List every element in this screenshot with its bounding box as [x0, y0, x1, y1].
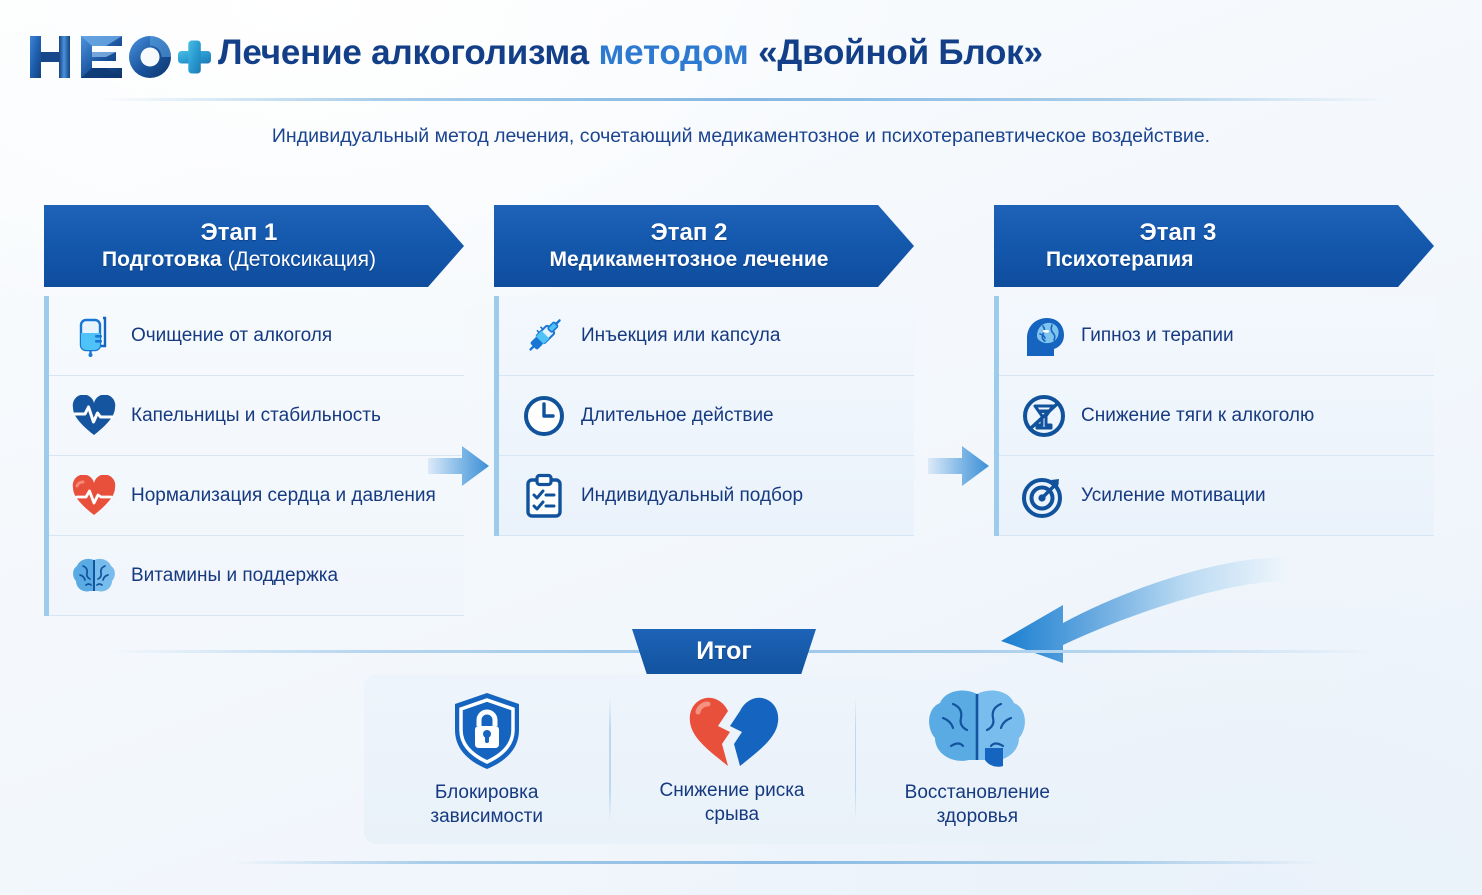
logo-letter-n — [30, 36, 70, 78]
arrow-right-icon — [428, 443, 490, 489]
shield-lock-icon — [447, 690, 527, 772]
list-item-label: Снижение тяги к алкоголю — [1081, 405, 1314, 427]
list-item[interactable]: Длительное действие — [499, 376, 914, 456]
logo-letter-o — [129, 36, 171, 78]
page-subtitle: Индивидуальный метод лечения, сочетающий… — [0, 125, 1482, 148]
list-item[interactable]: Инъекция или капсула — [499, 296, 914, 376]
list-item[interactable]: Очищение от алкоголя — [49, 296, 464, 376]
heart-pulse-red-icon — [67, 470, 121, 522]
stage-3-body: Гипноз и терапии Снижение тяги к алкогол… — [994, 296, 1434, 536]
logo-plus-icon — [178, 41, 211, 74]
brain-icon — [923, 690, 1031, 772]
no-alcohol-glass-icon — [1017, 390, 1071, 442]
list-item[interactable]: Капельницы и стабильность — [49, 376, 464, 456]
result-item-label-line1: Снижение риска — [659, 779, 804, 803]
curved-arrow-left-icon — [985, 545, 1295, 665]
brain-icon — [67, 550, 121, 602]
result-item-relapse[interactable]: Снижение риска срыва — [609, 694, 854, 824]
result-item-blocking[interactable]: Блокировка зависимости — [364, 694, 609, 824]
list-item[interactable]: Нормализация сердца и давления — [49, 456, 464, 536]
clipboard-checklist-icon — [517, 470, 571, 522]
result-item-label: Восстановление здоровья — [905, 781, 1050, 829]
header: Лечение алкоголизма методом «Двойной Бло… — [0, 0, 1482, 100]
header-divider — [95, 98, 1395, 101]
result-banner: Итог — [632, 629, 816, 674]
list-item-label: Усиление мотивации — [1081, 485, 1266, 507]
list-item[interactable]: Усиление мотивации — [999, 456, 1434, 536]
infographic-page: Лечение алкоголизма методом «Двойной Бло… — [0, 0, 1482, 895]
broken-heart-icon — [684, 692, 780, 770]
stage-1-name: Подготовка (Детоксикация) — [102, 247, 376, 272]
stage-1-header: Этап 1 Подготовка (Детоксикация) — [44, 205, 464, 287]
list-item[interactable]: Витамины и поддержка — [49, 536, 464, 616]
result-item-label: Снижение риска срыва — [659, 779, 804, 827]
result-item-label-line2: здоровья — [905, 805, 1050, 829]
arrow-right-icon — [928, 443, 990, 489]
list-item-label: Длительное действие — [581, 405, 774, 427]
result-panel: Блокировка зависимости Снижение риска ср… — [364, 674, 1100, 844]
syringe-icon — [517, 310, 571, 362]
neo-plus-logo — [26, 30, 211, 84]
stage-2-body: Инъекция или капсула Длительное действие — [494, 296, 914, 536]
stage-3-number: Этап 3 — [994, 220, 1398, 245]
list-item-label: Инъекция или капсула — [581, 325, 780, 347]
result-item-recovery[interactable]: Восстановление здоровья — [855, 694, 1100, 824]
stage-2-header: Этап 2 Медикаментозное лечение — [494, 205, 914, 287]
list-item-label: Очищение от алкоголя — [131, 325, 332, 347]
list-item[interactable]: Снижение тяги к алкоголю — [999, 376, 1434, 456]
list-item-label: Нормализация сердца и давления — [131, 485, 436, 507]
target-arrow-icon — [1017, 470, 1071, 522]
result-item-label-line1: Восстановление — [905, 781, 1050, 805]
list-item[interactable]: Индивидуальный подбор — [499, 456, 914, 536]
clock-icon — [517, 390, 571, 442]
logo-letter-e — [81, 36, 122, 78]
list-item[interactable]: Гипноз и терапии — [999, 296, 1434, 376]
list-item-label: Капельницы и стабильность — [131, 405, 381, 427]
title-part-1: Лечение алкоголизма — [218, 33, 589, 72]
bottom-divider — [230, 861, 1320, 864]
stage-card-3[interactable]: Этап 3 Психотерапия — [994, 205, 1434, 536]
stage-1-name-paren: (Детоксикация) — [228, 248, 376, 271]
list-item-label: Индивидуальный подбор — [581, 485, 803, 507]
head-brain-icon — [1017, 310, 1071, 362]
stage-1-name-main: Подготовка — [102, 248, 222, 271]
stage-2-number: Этап 2 — [651, 220, 728, 245]
stage-card-2[interactable]: Этап 2 Медикаментозное лечение — [494, 205, 914, 536]
heart-pulse-blue-icon — [67, 390, 121, 442]
iv-drip-icon — [67, 310, 121, 362]
result-item-label-line1: Блокировка — [430, 781, 543, 805]
result-item-label-line2: срыва — [659, 803, 804, 827]
stage-3-header: Этап 3 Психотерапия — [994, 205, 1434, 287]
page-title: Лечение алкоголизма методом «Двойной Бло… — [218, 33, 1043, 73]
result-item-label: Блокировка зависимости — [430, 781, 543, 829]
stage-1-body: Очищение от алкоголя Капельницы и стабил… — [44, 296, 464, 616]
list-item-label: Гипноз и терапии — [1081, 325, 1234, 347]
title-part-3: «Двойной Блок» — [758, 33, 1043, 72]
title-part-2: методом — [598, 33, 748, 72]
stage-3-name: Психотерапия — [994, 247, 1398, 272]
list-item-label: Витамины и поддержка — [131, 565, 338, 587]
result-item-label-line2: зависимости — [430, 805, 543, 829]
stage-1-number: Этап 1 — [201, 220, 278, 245]
stage-2-name: Медикаментозное лечение — [550, 247, 829, 272]
stage-card-1[interactable]: Этап 1 Подготовка (Детоксикация) — [44, 205, 464, 616]
result-banner-label: Итог — [696, 637, 752, 666]
